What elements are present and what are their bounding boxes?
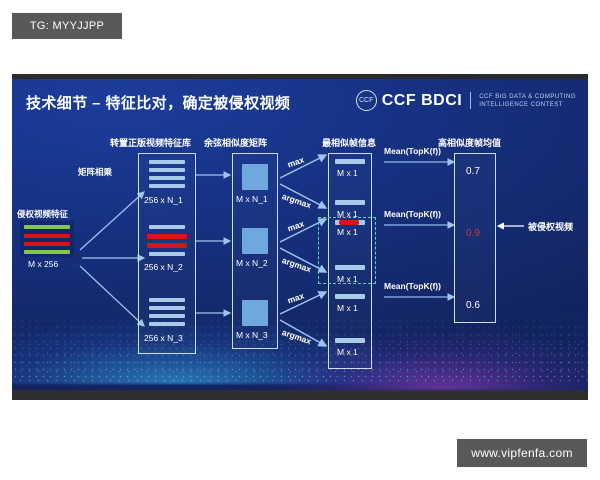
frame-bar-1 [335,159,365,164]
library-3-stripe-2 [149,306,185,310]
library-1-stripe-1 [149,160,185,164]
library-2-stripe-3 [147,243,187,248]
logo-tagline-line1: CCF BIG DATA & COMPUTING [479,93,576,101]
library-section-title: 转置正版视频特征库 [110,136,191,149]
watermark-badge-bottom-right: www.vipfenfa.com [457,439,587,467]
library-3-stripe-3 [149,314,185,318]
frame-bar-2 [335,200,365,205]
query-stripe-2 [24,234,70,238]
library-2-stripe-2 [147,234,187,239]
library-3-stripe-1 [149,298,185,302]
scores-section-title: 高相似度帧均值 [438,136,501,149]
cosine-matrix-2 [242,228,268,254]
library-3-stripe-4 [149,322,185,326]
score-value-2: 0.9 [466,228,480,239]
logo-tagline: CCF BIG DATA & COMPUTING INTELLIGENCE CO… [479,93,576,109]
score-value-3: 0.6 [466,300,480,311]
query-stripe-4 [24,250,70,254]
screenshot-root: TG: MYYJJPP www.vipfenfa.com 技术细节 – 特征比对… [0,0,600,480]
mean-topk-arrows [382,146,460,316]
cosine-1-dims: M x N_1 [236,194,268,204]
query-stripe-1 [24,225,70,229]
presentation-slide: 技术细节 – 特征比对，确定被侵权视频 CCF CCF BDCI CCF BIG… [12,74,588,400]
cosine-2-dims: M x N_2 [236,258,268,268]
library-2-stripe-1 [149,225,185,229]
frame-bar-5 [335,294,365,299]
logo-divider [470,92,471,109]
logo-tagline-line2: INTELLIGENCE CONTEST [479,101,576,109]
slide-title: 技术细节 – 特征比对，确定被侵权视频 [26,92,290,113]
query-stripe-3 [24,242,70,246]
cosine-matrix-1 [242,164,268,190]
cosine-column: M x N_1 M x N_2 M x N_3 [232,153,278,349]
selected-group-dashed-box [318,217,376,284]
ccf-seal-icon: CCF [356,90,377,111]
library-1-stripe-4 [149,184,185,188]
cosine-section-title: 余弦相似度矩阵 [204,136,267,149]
score-value-1: 0.7 [466,166,480,177]
library-1-dims: 256 x N_1 [144,195,183,205]
frame-1-dims: M x 1 [337,168,358,178]
frames-section-title: 最相似帧信息 [322,136,376,149]
library-2-stripe-4 [149,252,185,256]
result-arrow [496,220,526,234]
scores-column: 0.7 0.9 0.6 [454,153,496,323]
library-3-dims: 256 x N_3 [144,333,183,343]
frame-bar-6 [335,338,365,343]
frame-6-dims: M x 1 [337,347,358,357]
slide-top-bar [12,74,588,79]
query-feature-dims: M x 256 [28,259,58,269]
query-feature-matrix [20,221,74,257]
watermark-badge-top-left: TG: MYYJJPP [12,13,122,39]
logo-bdci-text: BDCI [421,92,462,110]
library-1-stripe-2 [149,168,185,172]
frame-5-dims: M x 1 [337,303,358,313]
ccf-bdci-logo: CCF CCF BDCI CCF BIG DATA & COMPUTING IN… [356,90,576,111]
query-feature-label: 侵权视频特征 [17,208,68,220]
library-2-dims: 256 x N_2 [144,262,183,272]
logo-ccf-text: CCF [382,92,416,110]
ccf-seal-text: CCF [359,97,373,104]
library-column: 256 x N_1 256 x N_2 256 x N_3 [138,153,196,354]
cosine-3-dims: M x N_3 [236,330,268,340]
library-1-stripe-3 [149,176,185,180]
library-to-cosine-arrows [196,153,234,353]
cosine-matrix-3 [242,300,268,326]
slide-bottom-bar [12,390,588,400]
result-label: 被侵权视频 [528,220,573,233]
